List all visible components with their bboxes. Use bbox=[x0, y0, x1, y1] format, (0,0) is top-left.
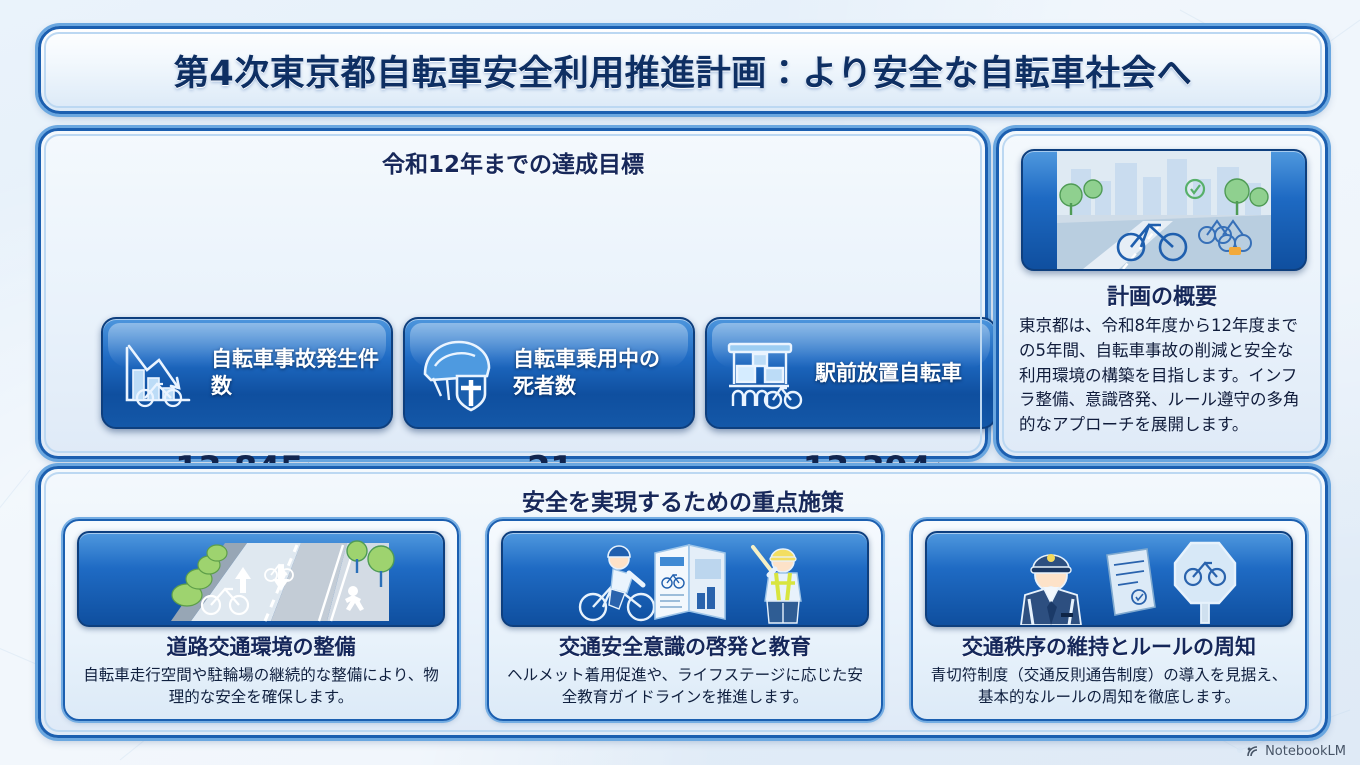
station-bicycle-parking-icon bbox=[719, 330, 805, 416]
measure-card-title: 道路交通環境の整備 bbox=[71, 631, 451, 661]
measures-panel: 安全を実現するための重点施策 bbox=[38, 466, 1328, 738]
measure-card-description: 自転車走行空間や駐輪場の継続的な整備により、物理的な安全を確保します。 bbox=[79, 664, 443, 709]
goals-panel-heading: 令和12年までの達成目標 bbox=[41, 145, 985, 179]
city-bike-lane-illustration bbox=[1021, 149, 1307, 271]
measure-card-road-environment[interactable]: 道路交通環境の整備 自転車走行空間や駐輪場の継続的な整備により、物理的な安全を確… bbox=[63, 519, 459, 721]
page-title-bar: 第4次東京都自転車安全利用推進計画：より安全な自転車社会へ bbox=[38, 26, 1328, 114]
notebooklm-logo-icon bbox=[1246, 745, 1260, 759]
metric-chip-fatalities[interactable]: 自転車乗用中の 死者数 bbox=[403, 317, 695, 429]
declining-bar-chart-bicycle-icon bbox=[115, 330, 201, 416]
measure-card-title: 交通秩序の維持とルールの周知 bbox=[919, 631, 1299, 661]
goals-panel: 令和12年までの達成目標 自転車事故発生件数 bbox=[38, 128, 988, 459]
helmet-shield-icon bbox=[417, 330, 503, 416]
cyclist-brochure-instructor-illustration bbox=[501, 531, 869, 627]
bike-lane-road-illustration bbox=[77, 531, 445, 627]
measure-card-description: ヘルメット着用促進や、ライフステージに応じた安全教育ガイドラインを推進します。 bbox=[503, 664, 867, 709]
metric-chip-label: 駅前放置自転車 bbox=[815, 360, 962, 387]
police-ticket-bicycle-sign-illustration bbox=[925, 531, 1293, 627]
overview-panel: 計画の概要 東京都は、令和8年度から12年度までの5年間、自転車事故の削減と安全… bbox=[996, 128, 1328, 459]
notebooklm-watermark: NotebookLM bbox=[1246, 744, 1346, 759]
page-title: 第4次東京都自転車安全利用推進計画：より安全な自転車社会へ bbox=[174, 45, 1192, 96]
metric-chip-label: 自転車事故発生件数 bbox=[211, 346, 379, 400]
metric-chip-accidents[interactable]: 自転車事故発生件数 bbox=[101, 317, 393, 429]
metric-chip-label: 自転車乗用中の 死者数 bbox=[513, 346, 660, 400]
overview-body: 東京都は、令和8年度から12年度までの5年間、自転車事故の削減と安全な利用環境の… bbox=[1019, 314, 1307, 438]
overview-title: 計画の概要 bbox=[999, 279, 1325, 311]
measure-card-description: 青切符制度（交通反則通告制度）の導入を見据え、基本的なルールの周知を徹底します。 bbox=[927, 664, 1291, 709]
measure-card-title: 交通安全意識の啓発と教育 bbox=[495, 631, 875, 661]
measure-card-safety-education[interactable]: 交通安全意識の啓発と教育 ヘルメット着用促進や、ライフステージに応じた安全教育ガ… bbox=[487, 519, 883, 721]
measure-card-rule-enforcement[interactable]: 交通秩序の維持とルールの周知 青切符制度（交通反則通告制度）の導入を見据え、基本… bbox=[911, 519, 1307, 721]
measures-panel-heading: 安全を実現するための重点施策 bbox=[41, 483, 1325, 517]
watermark-label: NotebookLM bbox=[1265, 744, 1346, 759]
metric-chip-abandoned-bikes[interactable]: 駅前放置自転車 bbox=[705, 317, 997, 429]
